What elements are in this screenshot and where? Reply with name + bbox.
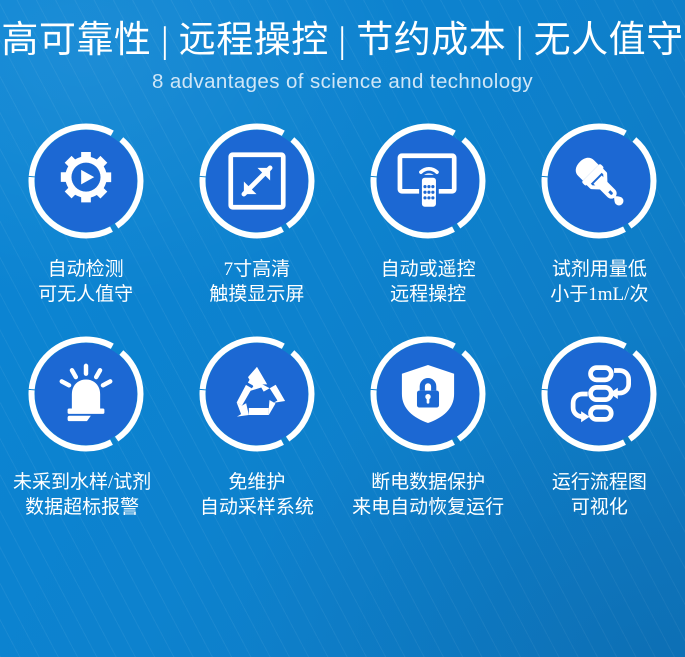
caption-line-2: 小于1mL/次: [550, 282, 648, 307]
feature-card-low-reagent[interactable]: 试剂用量低 小于1mL/次: [514, 122, 685, 335]
alarm-siren-icon: [35, 343, 137, 445]
feature-card-touch-screen[interactable]: 7寸高清 触摸显示屏: [171, 122, 342, 335]
feature-card-auto-detect[interactable]: 自动检测 可无人值守: [0, 122, 171, 335]
page-title: 高可靠性 | 远程操控 | 节约成本 | 无人值守: [0, 18, 685, 64]
page-header: 高可靠性 | 远程操控 | 节约成本 | 无人值守 8 advantages o…: [0, 0, 685, 95]
feature-caption: 免维护 自动采样系统: [200, 470, 314, 520]
recycle-icon: [206, 343, 308, 445]
tv-wifi-remote-icon: [377, 130, 479, 232]
caption-line-2: 自动采样系统: [200, 495, 314, 520]
gear-play-icon: [35, 130, 137, 232]
caption-line-2: 来电自动恢复运行: [352, 495, 504, 520]
feature-card-maintenance-free[interactable]: 免维护 自动采样系统: [171, 335, 342, 548]
feature-grid: 自动检测 可无人值守: [0, 122, 685, 548]
feature-badge: [540, 335, 658, 453]
caption-line-2: 数据超标报警: [13, 495, 151, 520]
feature-badge: [540, 122, 658, 240]
feature-caption: 断电数据保护 来电自动恢复运行: [352, 470, 504, 520]
promo-page: 高可靠性 | 远程操控 | 节约成本 | 无人值守 8 advantages o…: [0, 0, 685, 657]
flowchart-arrows-icon: [548, 343, 650, 445]
page-subtitle: 8 advantages of science and technology: [0, 69, 685, 95]
caption-line-1: 试剂用量低: [550, 257, 648, 282]
expand-arrows-screen-icon: [206, 130, 308, 232]
caption-line-1: 未采到水样/试剂: [13, 470, 151, 495]
caption-line-1: 免维护: [200, 470, 314, 495]
caption-line-1: 自动或遥控: [381, 257, 476, 282]
dropper-pipette-icon: [548, 130, 650, 232]
feature-card-alarm[interactable]: 未采到水样/试剂 数据超标报警: [0, 335, 171, 548]
feature-caption: 自动检测 可无人值守: [38, 257, 133, 307]
feature-badge: [198, 335, 316, 453]
feature-card-power-protection[interactable]: 断电数据保护 来电自动恢复运行: [343, 335, 514, 548]
feature-card-remote-control[interactable]: 自动或遥控 远程操控: [343, 122, 514, 335]
feature-caption: 7寸高清 触摸显示屏: [209, 257, 304, 307]
caption-line-1: 断电数据保护: [352, 470, 504, 495]
feature-caption: 未采到水样/试剂 数据超标报警: [13, 470, 151, 520]
shield-lock-icon: [377, 343, 479, 445]
caption-line-1: 运行流程图: [552, 470, 647, 495]
caption-line-2: 可无人值守: [38, 282, 133, 307]
caption-line-1: 7寸高清: [209, 257, 304, 282]
feature-badge: [369, 335, 487, 453]
caption-line-1: 自动检测: [38, 257, 133, 282]
caption-line-2: 可视化: [552, 495, 647, 520]
caption-line-2: 触摸显示屏: [209, 282, 304, 307]
feature-badge: [27, 122, 145, 240]
caption-line-2: 远程操控: [381, 282, 476, 307]
feature-caption: 自动或遥控 远程操控: [381, 257, 476, 307]
feature-badge: [198, 122, 316, 240]
feature-caption: 试剂用量低 小于1mL/次: [550, 257, 648, 307]
feature-card-flowchart[interactable]: 运行流程图 可视化: [514, 335, 685, 548]
feature-badge: [369, 122, 487, 240]
feature-caption: 运行流程图 可视化: [552, 470, 647, 520]
feature-badge: [27, 335, 145, 453]
